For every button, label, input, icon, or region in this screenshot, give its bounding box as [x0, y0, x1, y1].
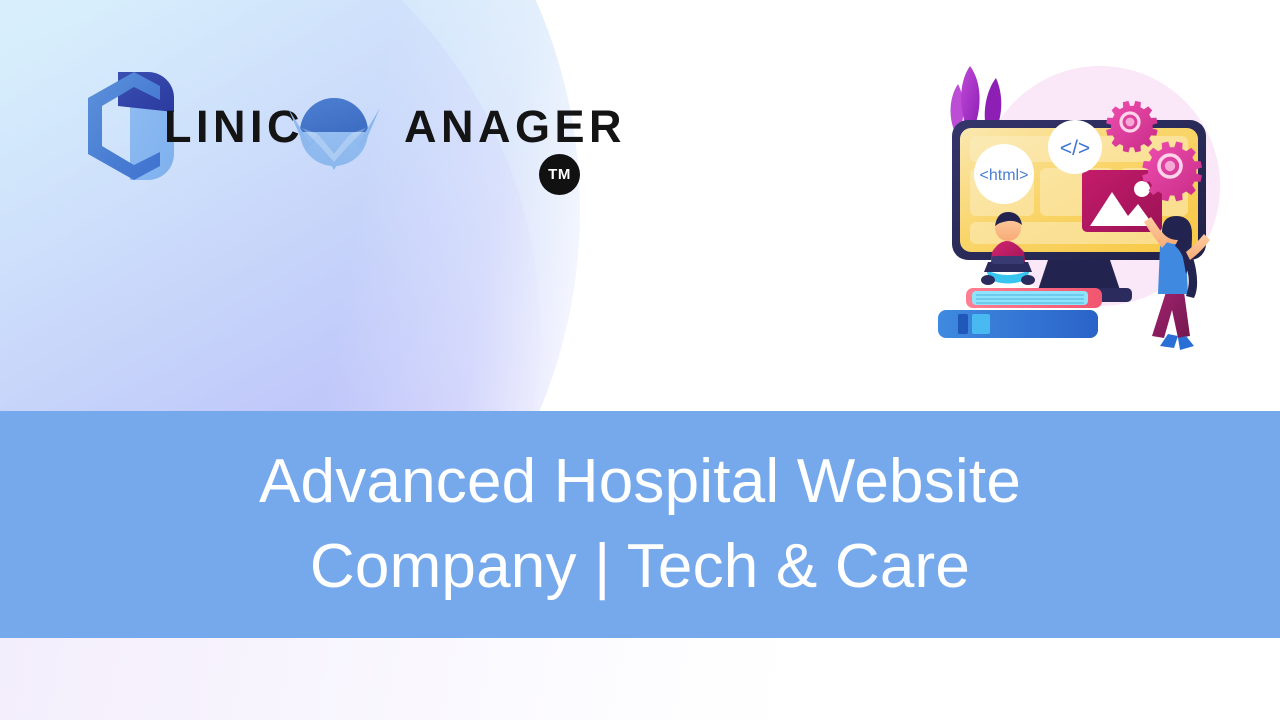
svg-text:<html>: <html>: [980, 167, 1029, 184]
title-banner: Advanced Hospital Website Company | Tech…: [0, 411, 1280, 638]
banner-title-line-1: Advanced Hospital Website: [259, 440, 1021, 524]
code-bubble-html: <html>: [974, 144, 1034, 204]
code-bubble-tag: </>: [1048, 120, 1102, 174]
banner-title-line-2: Company | Tech & Care: [310, 525, 970, 609]
book-bottom: [938, 310, 1098, 338]
svg-text:</>: </>: [1060, 137, 1090, 160]
brand-logo[interactable]: LINIC ANAGER: [78, 66, 518, 186]
circle-m-wing-icon: [284, 82, 384, 182]
book-stack: [938, 288, 1102, 338]
hexagon-c-icon: [78, 70, 176, 182]
logo-wordmark-part-1: LINIC: [164, 104, 304, 149]
logo-wordmark: LINIC ANAGER: [164, 90, 626, 162]
trademark-badge: TM: [539, 154, 580, 195]
logo-wordmark-part-2: ANAGER: [404, 104, 626, 149]
web-development-illustration: <html> </>: [930, 56, 1230, 352]
book-top: [966, 288, 1102, 308]
bottom-strip: [0, 638, 1280, 720]
page-root: LINIC ANAGER: [0, 0, 1280, 720]
